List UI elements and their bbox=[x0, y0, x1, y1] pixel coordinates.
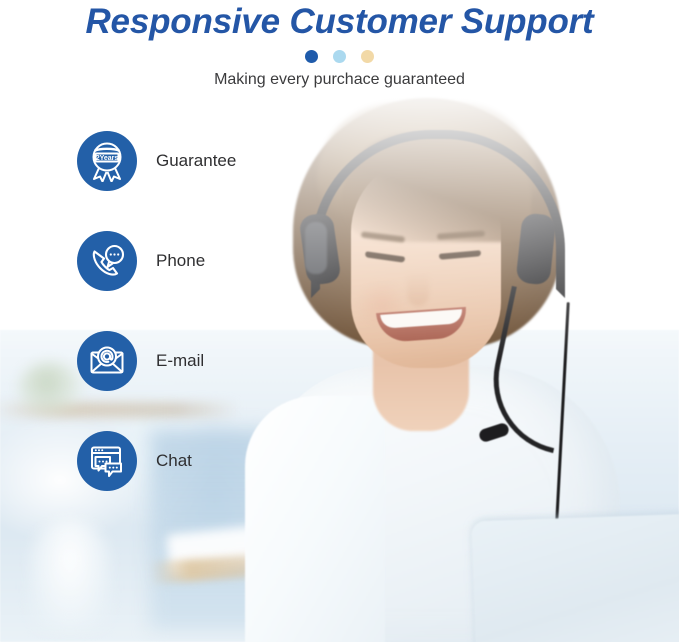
page-subtitle: Making every purchace guaranteed bbox=[0, 71, 679, 89]
carousel-dot-3[interactable] bbox=[361, 50, 374, 63]
chat-window-icon bbox=[77, 431, 137, 491]
email-at-envelope-icon bbox=[77, 331, 137, 391]
feature-list: 2Years Guarantee Phone bbox=[77, 131, 236, 491]
feature-label-guarantee: Guarantee bbox=[156, 151, 236, 171]
feature-label-email: E-mail bbox=[156, 351, 204, 371]
feature-item-email[interactable]: E-mail bbox=[77, 331, 236, 391]
feature-item-guarantee[interactable]: 2Years Guarantee bbox=[77, 131, 236, 191]
feature-label-chat: Chat bbox=[156, 451, 192, 471]
page-title: Responsive Customer Support bbox=[0, 0, 679, 44]
guarantee-badge-icon: 2Years bbox=[77, 131, 137, 191]
carousel-dot-1[interactable] bbox=[305, 50, 318, 63]
feature-item-chat[interactable]: Chat bbox=[77, 431, 236, 491]
feature-item-phone[interactable]: Phone bbox=[77, 231, 236, 291]
svg-text:2Years: 2Years bbox=[96, 155, 119, 162]
carousel-dots[interactable] bbox=[0, 50, 679, 63]
phone-chat-icon bbox=[77, 231, 137, 291]
feature-label-phone: Phone bbox=[156, 251, 205, 271]
support-banner: Responsive Customer Support Making every… bbox=[0, 0, 679, 642]
carousel-dot-2[interactable] bbox=[333, 50, 346, 63]
